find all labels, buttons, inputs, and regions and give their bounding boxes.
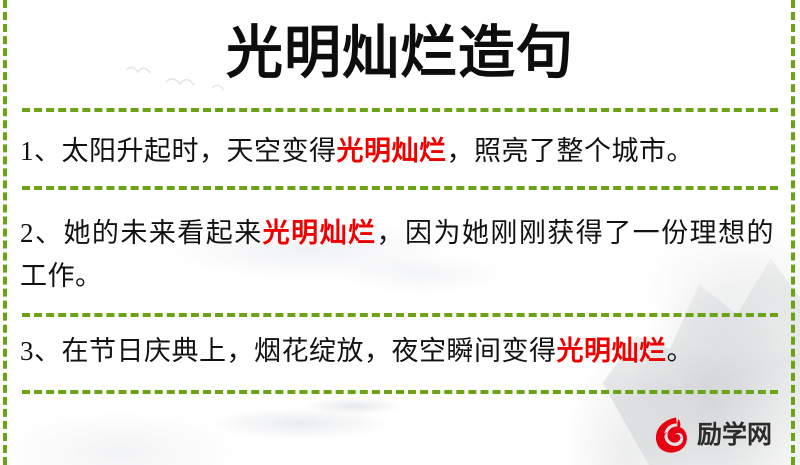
sentence-3-keyword: 光明灿烂	[557, 336, 667, 366]
site-logo[interactable]: 励学网	[651, 415, 772, 455]
sentence-3-before: 在节日庆典上，烟花绽放，夜空瞬间变得	[62, 336, 557, 366]
frame-border-right	[791, 0, 795, 465]
ink-wash-boat	[150, 385, 450, 455]
sentence-item-1: 1、太阳升起时，天空变得光明灿烂，照亮了整个城市。	[20, 130, 774, 173]
divider-1	[22, 108, 778, 112]
flame-swirl-icon	[651, 415, 691, 455]
sentence-2-index: 2、	[20, 218, 63, 248]
sentence-item-2: 2、她的未来看起来光明灿烂，因为她刚刚获得了一份理想的工作。	[20, 212, 774, 298]
sentence-1-keyword: 光明灿烂	[337, 136, 447, 166]
sentence-2-before: 她的未来看起来	[63, 218, 262, 248]
sentence-item-3: 3、在节日庆典上，烟花绽放，夜空瞬间变得光明灿烂。	[20, 330, 774, 373]
divider-3	[22, 313, 778, 317]
frame-border-left	[3, 0, 7, 465]
divider-4	[22, 390, 778, 394]
logo-text: 励学网	[697, 423, 772, 448]
sentence-3-index: 3、	[20, 336, 62, 366]
page-title: 光明灿烂造句	[0, 20, 800, 88]
sentence-3-after: 。	[667, 336, 695, 366]
sentence-card-page: 光明灿烂造句 1、太阳升起时，天空变得光明灿烂，照亮了整个城市。 2、她的未来看…	[0, 0, 800, 465]
sentence-1-before: 太阳升起时，天空变得	[62, 136, 337, 166]
sentence-1-after: ，照亮了整个城市。	[447, 136, 695, 166]
sentence-2-keyword: 光明灿烂	[263, 218, 377, 248]
divider-2	[22, 186, 778, 190]
sentence-1-index: 1、	[20, 136, 62, 166]
